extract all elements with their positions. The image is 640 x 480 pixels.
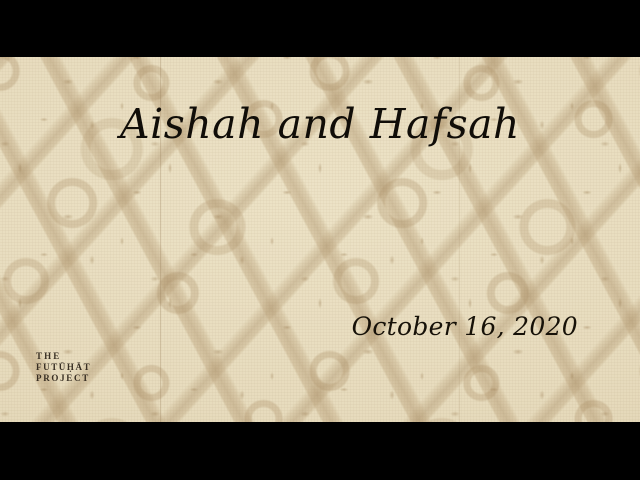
futuhat-project-logo: THE FUTŪḤĀT PROJECT <box>36 351 91 384</box>
letterbox-bar-bottom <box>0 422 640 480</box>
slide-content: Aishah and Hafsah October 16, 2020 THE F… <box>0 57 640 422</box>
logo-line-project: PROJECT <box>36 373 91 384</box>
logo-line-futuhat: FUTŪḤĀT <box>36 362 91 373</box>
slide-frame: Aishah and Hafsah October 16, 2020 THE F… <box>0 57 640 422</box>
video-title-slide: Aishah and Hafsah October 16, 2020 THE F… <box>0 0 640 480</box>
slide-date: October 16, 2020 <box>352 314 578 340</box>
logo-line-the: THE <box>36 351 91 362</box>
letterbox-bar-top <box>0 0 640 57</box>
slide-title: Aishah and Hafsah <box>0 103 640 146</box>
